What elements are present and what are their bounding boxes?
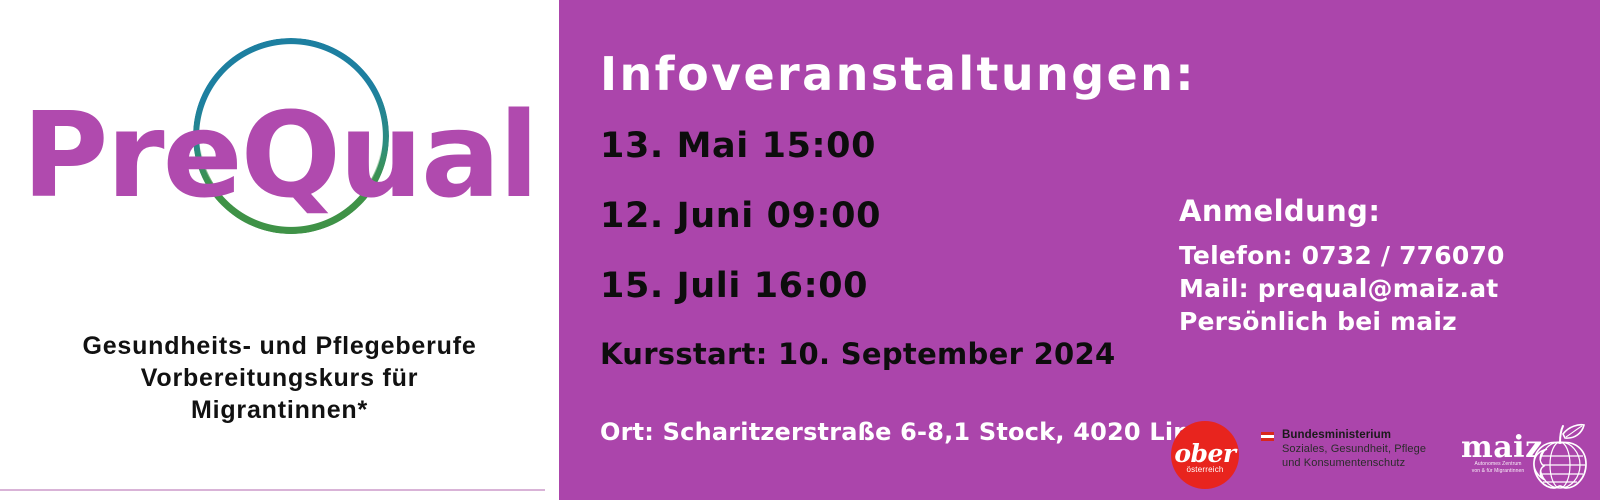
austria-flag-icon: [1261, 432, 1274, 441]
bundesministerium-subtitle-2: und Konsumentenschutz: [1282, 456, 1462, 470]
prequal-logo: PreQual: [0, 0, 559, 322]
event-date-item: 15. Juli 16:00: [600, 268, 1140, 304]
maiz-logo: maiz Autonomes Zentrum von & für Migrant…: [1461, 421, 1591, 491]
tagline-line-2: Vorbereitungskurs für: [0, 362, 559, 394]
event-date-item: 12. Juni 09:00: [600, 198, 1140, 234]
oberoesterreich-logo: ober österreich: [1171, 421, 1239, 489]
bundesministerium-title: Bundesministerium: [1282, 428, 1462, 442]
ober-subtitle: österreich: [1171, 465, 1239, 475]
maiz-subtitle-line-2: von & für Migrantinnen: [1463, 468, 1533, 475]
registration-block: Anmeldung: Telefon: 0732 / 776070 Mail: …: [1179, 194, 1579, 338]
registration-email: Mail: prequal@maiz.at: [1179, 272, 1579, 305]
course-start-text: Kursstart: 10. September 2024: [600, 338, 1116, 370]
location-text: Ort: Scharitzerstraße 6-8,1 Stock, 4020 …: [600, 418, 1205, 446]
ober-wordmark: ober: [1171, 441, 1239, 466]
registration-in-person: Persönlich bei maiz: [1179, 305, 1579, 338]
partner-logo-row: ober österreich Bundesministerium Sozial…: [1171, 415, 1591, 495]
prequal-info-banner: PreQual Gesundheits- und Pflegeberufe Vo…: [0, 0, 1600, 500]
left-logo-panel: PreQual Gesundheits- und Pflegeberufe Vo…: [0, 0, 559, 500]
registration-phone: Telefon: 0732 / 776070: [1179, 239, 1579, 272]
bottom-divider: [0, 489, 545, 491]
maiz-apple-globe-icon: [1527, 421, 1591, 491]
right-info-panel: Infoveranstaltungen: 13. Mai 15:00 12. J…: [559, 0, 1600, 500]
bundesministerium-text: Bundesministerium Soziales, Gesundheit, …: [1282, 428, 1462, 470]
logo-wordmark: PreQual: [0, 96, 559, 214]
event-date-item: 13. Mai 15:00: [600, 128, 1140, 164]
registration-heading: Anmeldung:: [1179, 194, 1579, 228]
maiz-subtitle: Autonomes Zentrum von & für Migrantinnen: [1463, 461, 1533, 474]
tagline-line-3: Migrantinnen*: [0, 394, 559, 426]
maiz-wordmark: maiz: [1461, 433, 1533, 463]
event-date-list: 13. Mai 15:00 12. Juni 09:00 15. Juli 16…: [600, 128, 1140, 338]
info-events-heading: Infoveranstaltungen:: [600, 48, 1196, 100]
bundesministerium-subtitle-1: Soziales, Gesundheit, Pflege: [1282, 442, 1462, 456]
tagline-line-1: Gesundheits- und Pflegeberufe: [0, 330, 559, 362]
tagline: Gesundheits- und Pflegeberufe Vorbereitu…: [0, 330, 559, 426]
